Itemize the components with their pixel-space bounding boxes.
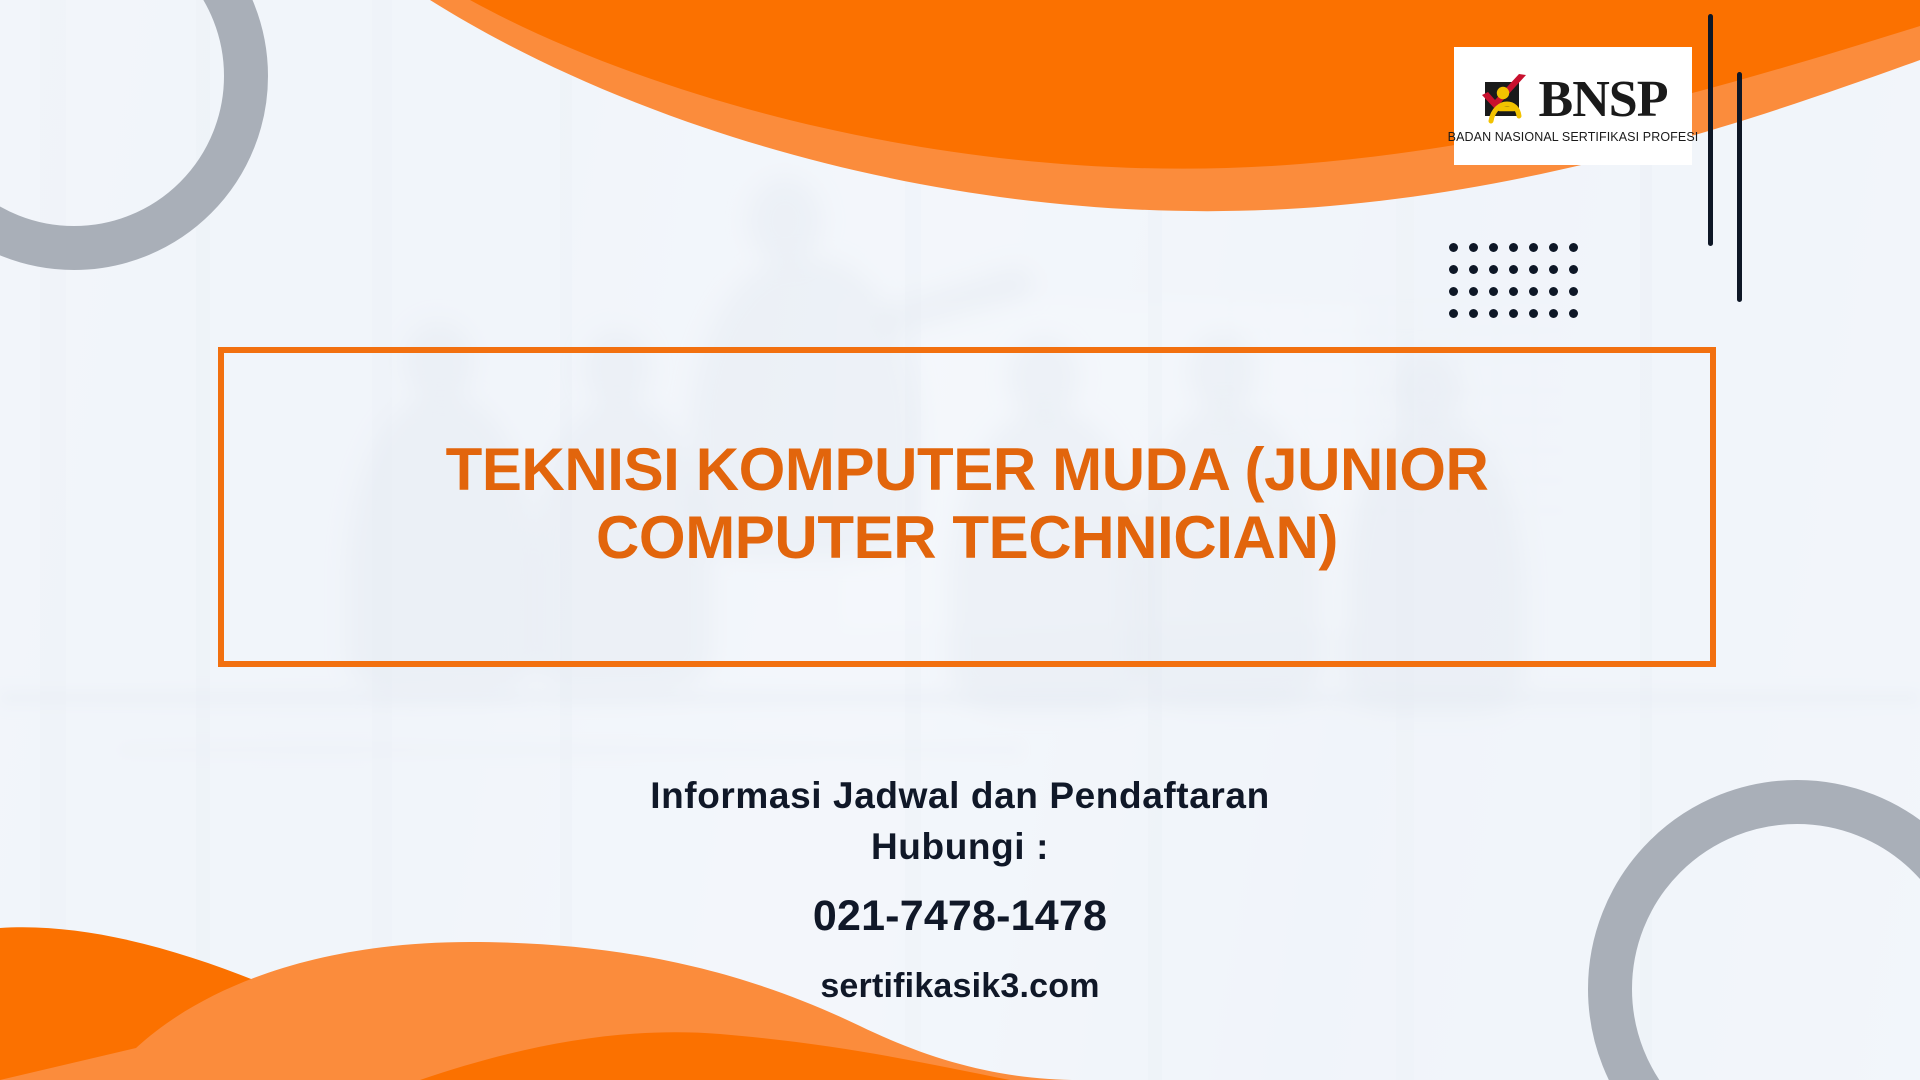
- grid-dot: [1529, 265, 1538, 274]
- grid-dot: [1489, 243, 1498, 252]
- grid-dot: [1529, 309, 1538, 318]
- vertical-bar-decoration: [1737, 72, 1742, 302]
- poster-canvas: BNSP BADAN NASIONAL SERTIFIKASI PROFESI …: [0, 0, 1920, 1080]
- grid-dot: [1469, 243, 1478, 252]
- grid-dot: [1549, 265, 1558, 274]
- bnsp-logo: BNSP BADAN NASIONAL SERTIFIKASI PROFESI: [1454, 47, 1692, 165]
- grid-dot: [1549, 309, 1558, 318]
- bnsp-logo-row: BNSP: [1479, 73, 1668, 127]
- grid-dot: [1509, 243, 1518, 252]
- grid-dot: [1569, 309, 1578, 318]
- vertical-bar-decoration: [1708, 14, 1713, 246]
- grid-dot: [1449, 287, 1458, 296]
- bnsp-check-figure-icon: [1479, 73, 1533, 127]
- grid-dot: [1549, 243, 1558, 252]
- bnsp-wordmark: BNSP: [1539, 76, 1668, 124]
- grid-dot: [1529, 287, 1538, 296]
- grid-dot: [1449, 309, 1458, 318]
- grid-dot: [1509, 265, 1518, 274]
- contact-block: Informasi Jadwal dan Pendaftaran Hubungi…: [0, 770, 1920, 1006]
- contact-info-line-2: Hubungi :: [0, 821, 1920, 872]
- grid-dot: [1469, 265, 1478, 274]
- contact-website[interactable]: sertifikasik3.com: [0, 967, 1920, 1006]
- bnsp-tagline: BADAN NASIONAL SERTIFIKASI PROFESI: [1448, 130, 1699, 144]
- grid-dot: [1549, 287, 1558, 296]
- grid-dot: [1529, 243, 1538, 252]
- contact-info-line-1: Informasi Jadwal dan Pendaftaran: [0, 770, 1920, 821]
- grid-dot: [1489, 287, 1498, 296]
- page-title: TEKNISI KOMPUTER MUDA (JUNIOR COMPUTER T…: [302, 436, 1632, 572]
- grid-dot: [1509, 287, 1518, 296]
- title-frame: TEKNISI KOMPUTER MUDA (JUNIOR COMPUTER T…: [218, 347, 1716, 667]
- grid-dot: [1569, 265, 1578, 274]
- grid-dot: [1569, 243, 1578, 252]
- grid-dot: [1469, 309, 1478, 318]
- contact-phone-number[interactable]: 021-7478-1478: [0, 892, 1920, 941]
- grid-dot: [1489, 265, 1498, 274]
- grid-dot: [1449, 265, 1458, 274]
- grid-dot: [1489, 309, 1498, 318]
- grid-dot: [1469, 287, 1478, 296]
- grid-dot: [1569, 287, 1578, 296]
- grid-dot: [1509, 309, 1518, 318]
- dot-grid-decoration: [1449, 243, 1589, 331]
- grid-dot: [1449, 243, 1458, 252]
